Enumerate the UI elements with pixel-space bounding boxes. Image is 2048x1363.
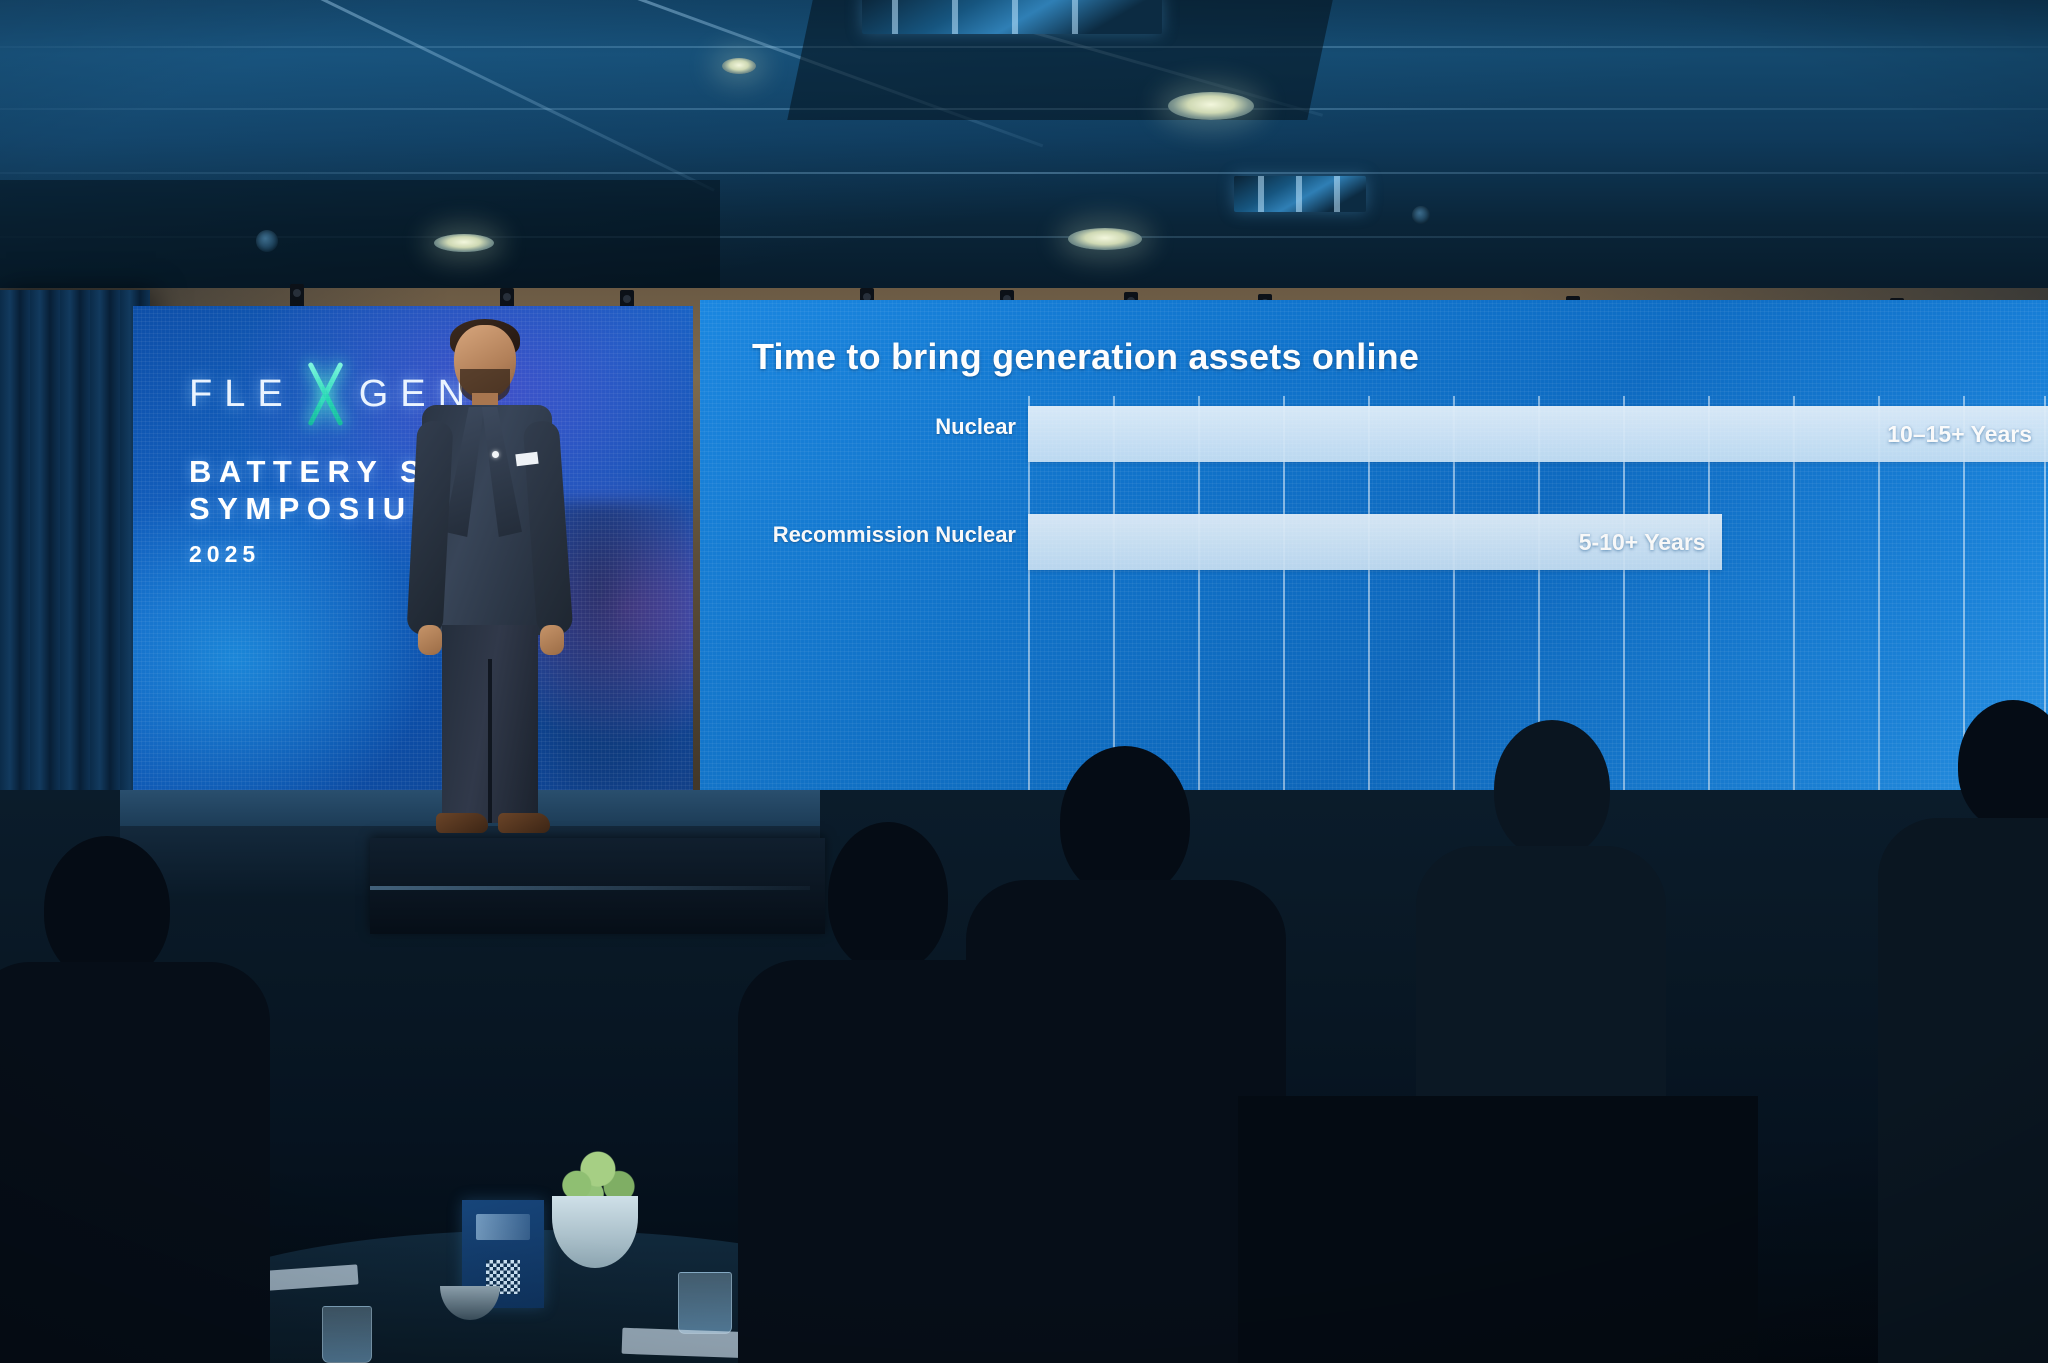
audience-head xyxy=(1060,746,1190,898)
audience-head xyxy=(44,836,170,982)
ceiling-downlight xyxy=(434,234,494,252)
lavalier-microphone-icon xyxy=(492,451,499,458)
right-slide-led-screen: Time to bring generation assets online N… xyxy=(700,300,2048,796)
ceiling-grid-line xyxy=(0,172,2048,174)
audience-shoulders xyxy=(1878,818,2048,1363)
ceiling-downlight xyxy=(1168,92,1254,120)
ceiling-air-vent xyxy=(1234,176,1366,212)
speaker-hand-right xyxy=(540,625,564,655)
conference-photo-scene: FLE GEN BATTERY STO SYMPOSIUM 2025 Time … xyxy=(0,0,2048,1363)
audience-head xyxy=(828,822,948,972)
ceiling-speaker xyxy=(256,230,278,252)
led-pixel-texture xyxy=(700,300,2048,796)
table-tent-logo xyxy=(476,1214,530,1240)
speaker-trousers xyxy=(442,625,538,823)
speaker-hand-left xyxy=(418,625,442,655)
speaker-on-stage xyxy=(398,325,608,835)
ceiling-downlight xyxy=(1068,228,1142,250)
notepad xyxy=(622,1328,753,1359)
ceiling-air-vent xyxy=(862,0,1162,34)
audience-foreground-mass xyxy=(1238,1096,1758,1363)
ceiling-shadow xyxy=(0,180,720,300)
speaker-shoe-right xyxy=(498,813,550,833)
ceiling-downlight xyxy=(722,58,756,74)
speaker-shoe-left xyxy=(436,813,488,833)
water-glass xyxy=(322,1306,372,1363)
water-glass xyxy=(678,1272,732,1334)
smoke-detector-icon xyxy=(1412,206,1430,224)
audience-head xyxy=(1494,720,1610,858)
audience-shoulders xyxy=(0,962,270,1363)
stage-riser-edge-highlight xyxy=(370,886,810,890)
